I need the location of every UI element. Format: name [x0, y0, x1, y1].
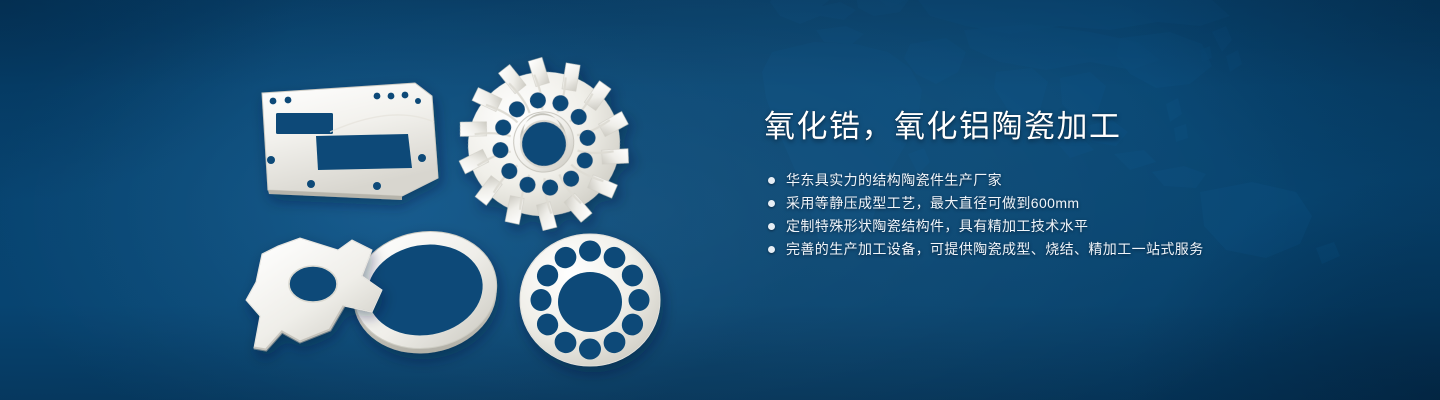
list-item-label: 采用等静压成型工艺，最大直径可做到600mm	[786, 192, 1079, 215]
ceramic-parts-photo	[0, 0, 720, 400]
ceramic-plate-shape	[262, 83, 438, 200]
bullet-dot-icon	[768, 223, 775, 230]
ceramic-perforated-disc-shape	[520, 234, 660, 366]
list-item: 定制特殊形状陶瓷结构件，具有精加工技术水平	[764, 215, 1384, 238]
list-item: 完善的生产加工设备，可提供陶瓷成型、烧结、精加工一站式服务	[764, 238, 1384, 261]
list-item-label: 定制特殊形状陶瓷结构件，具有精加工技术水平	[786, 215, 1088, 238]
bullet-dot-icon	[768, 177, 775, 184]
page-title: 氧化锆，氧化铝陶瓷加工	[764, 104, 1384, 150]
list-item-label: 华东具实力的结构陶瓷件生产厂家	[786, 169, 1002, 192]
list-item: 华东具实力的结构陶瓷件生产厂家	[764, 169, 1384, 192]
hero-banner: 氧化锆，氧化铝陶瓷加工 华东具实力的结构陶瓷件生产厂家 采用等静压成型工艺，最大…	[0, 0, 1440, 400]
list-item: 采用等静压成型工艺，最大直径可做到600mm	[764, 192, 1384, 215]
bullet-dot-icon	[768, 200, 775, 207]
bullet-dot-icon	[768, 246, 775, 253]
banner-copy: 氧化锆，氧化铝陶瓷加工 华东具实力的结构陶瓷件生产厂家 采用等静压成型工艺，最大…	[764, 104, 1384, 261]
list-item-label: 完善的生产加工设备，可提供陶瓷成型、烧结、精加工一站式服务	[786, 238, 1204, 261]
feature-list: 华东具实力的结构陶瓷件生产厂家 采用等静压成型工艺，最大直径可做到600mm 定…	[764, 169, 1384, 261]
